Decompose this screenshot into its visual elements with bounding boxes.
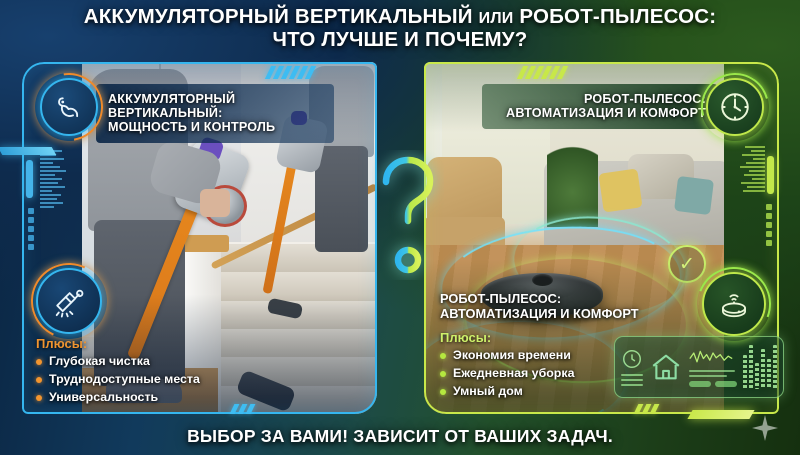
progress-pill [689, 381, 711, 387]
question-mark-graphic [372, 150, 444, 280]
right-panel-subtitle: РОБОТ-ПЫЛЕСОС: АВТОМАТИЗАЦИЯ И КОМФОРТ [440, 292, 700, 322]
right-header-line1: РОБОТ-ПЫЛЕСОС: [492, 92, 706, 106]
smart-home-dashboard-widget [614, 336, 784, 398]
muscle-arm-icon [40, 78, 98, 136]
right-panel-header: РОБОТ-ПЫЛЕСОС: АВТОМАТИЗАЦИЯ И КОМФОРТ [482, 84, 718, 129]
hud-accent-bar-left [26, 160, 33, 198]
left-header-line1: АККУМУЛЯТОРНЫЙ ВЕРТИКАЛЬНЫЙ: [108, 92, 324, 120]
bullet-dot-icon [440, 389, 446, 395]
right-header-line2: АВТОМАТИЗАЦИЯ И КОМФОРТ [492, 106, 706, 120]
list-item-label: Ежедневная уборка [453, 365, 574, 383]
status-lines [689, 370, 737, 377]
list-item: Универсальность [36, 389, 296, 407]
left-panel-header: АККУМУЛЯТОРНЫЙ ВЕРТИКАЛЬНЫЙ: МОЩНОСТЬ И … [96, 84, 334, 143]
left-header-line2: МОЩНОСТЬ И КОНТРОЛЬ [108, 120, 324, 134]
list-item-label: Труднодоступные места [49, 371, 200, 389]
waveform-icon [689, 348, 737, 366]
infographic-canvas: АККУМУЛЯТОРНЫЙ ВЕРТИКАЛЬНЫЙ ИЛИ РОБОТ-ПЫ… [0, 0, 800, 455]
robot-vacuum-icon [702, 272, 766, 336]
title-line1-conjunction: ИЛИ [479, 10, 514, 27]
level-meter-icon [743, 345, 777, 389]
hud-bars-right [740, 146, 765, 192]
footer-banner: ВЫБОР ЗА ВАМИ! ЗАВИСИТ ОТ ВАШИХ ЗАДАЧ. [0, 426, 800, 447]
bullet-dot-icon [36, 359, 42, 365]
footer-text: ВЫБОР ЗА ВАМИ! ЗАВИСИТ ОТ ВАШИХ ЗАДАЧ. [187, 426, 613, 446]
corner-bar-right [687, 410, 754, 419]
slash-decoration-right [520, 66, 565, 79]
bullet-dot-icon [36, 377, 42, 383]
clock-icon [621, 348, 643, 370]
page-title: АККУМУЛЯТОРНЫЙ ВЕРТИКАЛЬНЫЙ ИЛИ РОБОТ-ПЫ… [0, 6, 800, 51]
right-subtitle-line2: АВТОМАТИЗАЦИЯ И КОМФОРТ [440, 307, 700, 322]
progress-pill [715, 381, 737, 387]
title-line2: ЧТО ЛУЧШЕ И ПОЧЕМУ? [0, 29, 800, 51]
list-item-label: Умный дом [453, 383, 523, 401]
vacuum-brush-head-icon [36, 268, 102, 334]
slash-decoration-left [268, 66, 313, 79]
status-lines [621, 374, 643, 386]
bullet-dot-icon [440, 371, 446, 377]
clock-icon [706, 78, 764, 136]
list-item: Труднодоступные места [36, 371, 296, 389]
bullet-dot-icon [440, 353, 446, 359]
hud-bars-left [40, 150, 66, 208]
title-line1-part2: РОБОТ-ПЫЛЕСОС: [519, 5, 716, 28]
house-icon [649, 347, 683, 387]
list-item: Глубокая чистка [36, 353, 296, 371]
bullet-dot-icon [36, 395, 42, 401]
list-item-label: Глубокая чистка [49, 353, 150, 371]
list-item-label: Экономия времени [453, 347, 571, 365]
title-line1-part1: АККУМУЛЯТОРНЫЙ ВЕРТИКАЛЬНЫЙ [84, 5, 473, 28]
list-item-label: Универсальность [49, 389, 158, 407]
slash-decoration-bottom-right [636, 404, 657, 414]
hud-dots-left [28, 208, 34, 250]
hud-accent-bar-right [767, 156, 774, 194]
left-pros-list: Плюсы: Глубокая чистка Труднодоступные м… [36, 336, 296, 407]
hud-dots-right [766, 204, 772, 246]
corner-bar-left [0, 147, 56, 155]
right-subtitle-line1: РОБОТ-ПЫЛЕСОС: [440, 292, 700, 307]
